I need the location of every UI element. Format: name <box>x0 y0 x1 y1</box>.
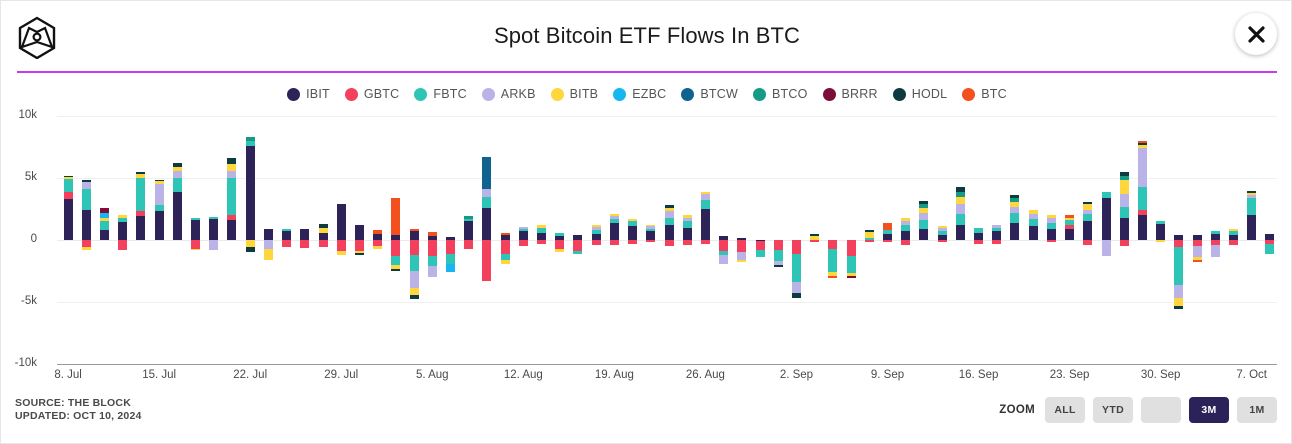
bar-segment-fbtc <box>1083 214 1092 221</box>
bar-column[interactable] <box>1065 116 1074 364</box>
bar-segment-gbtc <box>901 240 910 245</box>
bar-segment-hodl <box>64 176 73 177</box>
bar-segment-arkb <box>1010 207 1019 213</box>
bar-segment-fbtc <box>774 250 783 261</box>
bar-segment-ibit <box>191 220 200 240</box>
bar-segment-gbtc <box>774 240 783 250</box>
bar-segment-btc <box>1193 260 1202 262</box>
bar-segment-arkb <box>1047 218 1056 222</box>
chart-widget: Spot Bitcoin ETF Flows In BTC IBITGBTCFB… <box>0 0 1292 444</box>
y-axis-tick-label: -5k <box>0 295 37 307</box>
bar-column[interactable] <box>282 116 291 364</box>
bar-column[interactable] <box>246 116 255 364</box>
legend-swatch-icon <box>962 88 975 101</box>
bar-column[interactable] <box>428 116 437 364</box>
bar-column[interactable] <box>719 116 728 364</box>
bar-column[interactable] <box>482 116 491 364</box>
bar-segment-btco <box>246 137 255 140</box>
bar-column[interactable] <box>1029 116 1038 364</box>
bar-column[interactable] <box>264 116 273 364</box>
bar-segment-btc <box>883 223 892 230</box>
y-axis-tick-label: 0 <box>0 233 37 245</box>
updated-line: UPDATED: OCT 10, 2024 <box>15 410 142 423</box>
bar-segment-arkb <box>992 225 1001 227</box>
bar-segment-btc <box>828 276 837 278</box>
bar-segment-gbtc <box>646 240 655 242</box>
bar-segment-bitb <box>64 177 73 179</box>
bar-column[interactable] <box>155 116 164 364</box>
bar-segment-fbtc <box>956 214 965 225</box>
bar-column[interactable] <box>573 116 582 364</box>
bar-segment-arkb <box>938 228 947 231</box>
x-axis-tick-label: 22. Jul <box>233 369 267 381</box>
bar-column[interactable] <box>865 116 874 364</box>
bar-column[interactable] <box>756 116 765 364</box>
bar-column[interactable] <box>319 116 328 364</box>
bar-segment-btco <box>464 216 473 219</box>
bar-segment-btco <box>919 204 928 208</box>
bar-segment-bitb <box>501 260 510 264</box>
bar-column[interactable] <box>555 116 564 364</box>
bar-segment-gbtc <box>355 240 364 251</box>
bar-column[interactable] <box>883 116 892 364</box>
bar-column[interactable] <box>956 116 965 364</box>
bar-segment-gbtc <box>410 240 419 255</box>
legend-item-hodl[interactable]: HODL <box>893 87 948 101</box>
bar-column[interactable] <box>1010 116 1019 364</box>
bar-segment-ezbc <box>446 264 455 273</box>
bar-segment-fbtc <box>919 220 928 229</box>
bar-segment-arkb <box>610 216 619 219</box>
bar-segment-bitb <box>173 167 182 171</box>
bar-segment-ibit <box>683 228 692 240</box>
bar-column[interactable] <box>774 116 783 364</box>
bar-segment-arkb <box>683 218 692 222</box>
legend-swatch-icon <box>551 88 564 101</box>
bar-segment-fbtc <box>209 217 218 218</box>
bar-column[interactable] <box>373 116 382 364</box>
accent-divider <box>17 71 1277 73</box>
bar-segment-ibit <box>519 231 528 240</box>
bar-segment-ibit <box>919 229 928 240</box>
bar-segment-bitb <box>264 249 273 260</box>
bar-column[interactable] <box>938 116 947 364</box>
legend-item-btco[interactable]: BTCO <box>753 87 808 101</box>
bar-column[interactable] <box>136 116 145 364</box>
bar-segment-gbtc <box>719 240 728 251</box>
bar-segment-hodl <box>355 253 364 255</box>
bar-column[interactable] <box>828 116 837 364</box>
legend-item-gbtc[interactable]: GBTC <box>345 87 400 101</box>
bar-segment-gbtc <box>501 240 510 254</box>
bar-segment-ibit <box>1156 224 1165 240</box>
chart-legend: IBITGBTCFBTCARKBBITBEZBCBTCWBTCOBRRRHODL… <box>1 87 1292 101</box>
bar-segment-bitb <box>683 215 692 218</box>
bar-segment-bitb <box>373 246 382 250</box>
bar-segment-ibit <box>355 225 364 240</box>
bar-segment-arkb <box>719 255 728 264</box>
bar-segment-fbtc <box>974 228 983 233</box>
legend-item-arkb[interactable]: ARKB <box>482 87 536 101</box>
bar-segment-fbtc <box>1010 213 1019 223</box>
bar-segment-gbtc <box>282 240 291 247</box>
bar-segment-gbtc <box>701 240 710 244</box>
page-title: Spot Bitcoin ETF Flows In BTC <box>1 23 1292 49</box>
bar-column[interactable] <box>1211 116 1220 364</box>
x-axis-tick-label: 7. Oct <box>1236 369 1267 381</box>
bar-column[interactable] <box>810 116 819 364</box>
bar-segment-bitb <box>191 249 200 250</box>
bar-column[interactable] <box>519 116 528 364</box>
legend-item-bitb[interactable]: BITB <box>551 87 599 101</box>
legend-item-btcw[interactable]: BTCW <box>681 87 738 101</box>
legend-label: EZBC <box>632 87 666 101</box>
legend-item-brrr[interactable]: BRRR <box>823 87 878 101</box>
zoom-button-1m[interactable]: 1M <box>1237 397 1277 423</box>
bar-column[interactable] <box>337 116 346 364</box>
bar-segment-gbtc <box>136 211 145 216</box>
bar-segment-arkb <box>1193 246 1202 257</box>
bar-segment-gbtc <box>847 240 856 256</box>
bar-segment-bitb <box>956 197 965 204</box>
bar-segment-fbtc <box>519 229 528 231</box>
bar-segment-ibit <box>282 231 291 240</box>
zoom-button-blank[interactable] <box>1141 397 1181 423</box>
bar-segment-fbtc <box>865 238 874 240</box>
bar-segment-ibit <box>646 231 655 240</box>
bar-column[interactable] <box>209 116 218 364</box>
bar-segment-ibit <box>227 220 236 240</box>
bar-segment-bitb <box>665 208 674 212</box>
legend-item-btc[interactable]: BTC <box>962 87 1007 101</box>
bar-segment-arkb <box>1174 285 1183 299</box>
bar-segment-ibit <box>1065 229 1074 240</box>
legend-swatch-icon <box>613 88 626 101</box>
legend-label: GBTC <box>364 87 400 101</box>
close-button[interactable] <box>1235 13 1277 55</box>
bar-segment-fbtc <box>464 219 473 221</box>
bar-segment-arkb <box>482 189 491 196</box>
legend-label: IBIT <box>306 87 330 101</box>
bar-column[interactable] <box>355 116 364 364</box>
bar-segment-ibit <box>464 221 473 240</box>
bar-segment-gbtc <box>1047 240 1056 242</box>
bar-segment-fbtc <box>282 229 291 231</box>
bar-segment-gbtc <box>683 240 692 245</box>
legend-swatch-icon <box>823 88 836 101</box>
bar-segment-hodl <box>919 201 928 204</box>
bar-segment-arkb <box>1247 195 1256 197</box>
bar-column[interactable] <box>1229 116 1238 364</box>
bar-segment-fbtc <box>828 249 837 273</box>
bar-column[interactable] <box>100 116 109 364</box>
bar-column[interactable] <box>300 116 309 364</box>
bar-column[interactable] <box>1120 116 1129 364</box>
x-axis-tick-label: 9. Sep <box>871 369 904 381</box>
gridline <box>57 364 1277 365</box>
bar-segment-btc <box>1065 215 1074 217</box>
bar-segment-fbtc <box>82 189 91 210</box>
bar-segment-arkb <box>901 221 910 225</box>
bar-segment-arkb <box>1029 214 1038 219</box>
bar-segment-gbtc <box>992 240 1001 244</box>
bar-segment-fbtc <box>628 221 637 226</box>
bar-column[interactable] <box>82 116 91 364</box>
bar-segment-hodl <box>319 224 328 227</box>
bar-segment-ibit <box>209 219 218 240</box>
bar-segment-ibit <box>901 231 910 240</box>
bar-column[interactable] <box>1247 116 1256 364</box>
bar-segment-btcw <box>482 157 491 189</box>
bar-segment-ibit <box>1029 226 1038 240</box>
bar-segment-hodl <box>1010 195 1019 198</box>
bar-column[interactable] <box>1193 116 1202 364</box>
bar-segment-bitb <box>1029 210 1038 214</box>
bar-segment-fbtc <box>847 256 856 273</box>
bar-segment-gbtc <box>737 240 746 252</box>
bar-column[interactable] <box>919 116 928 364</box>
x-axis-tick-label: 29. Jul <box>324 369 358 381</box>
bar-column[interactable] <box>1102 116 1111 364</box>
bar-segment-hodl <box>155 180 164 181</box>
legend-item-ibit[interactable]: IBIT <box>287 87 330 101</box>
bar-column[interactable] <box>1047 116 1056 364</box>
bar-segment-btc <box>428 232 437 236</box>
bar-segment-arkb <box>209 240 218 250</box>
bar-column[interactable] <box>227 116 236 364</box>
bar-segment-bitb <box>701 192 710 194</box>
bar-column[interactable] <box>1138 116 1147 364</box>
bar-segment-hodl <box>391 269 400 271</box>
bar-segment-gbtc <box>428 240 437 256</box>
bar-segment-arkb <box>1102 240 1111 256</box>
zoom-button-3m[interactable]: 3M <box>1189 397 1229 423</box>
bar-segment-arkb <box>646 226 655 228</box>
x-axis-tick-label: 15. Jul <box>142 369 176 381</box>
bar-segment-ibit <box>628 226 637 240</box>
bar-segment-bitb <box>610 214 619 216</box>
bar-segment-ibit <box>337 204 346 240</box>
bar-segment-arkb <box>428 266 437 277</box>
bar-column[interactable] <box>64 116 73 364</box>
bar-column[interactable] <box>847 116 856 364</box>
bar-column[interactable] <box>665 116 674 364</box>
bar-column[interactable] <box>501 116 510 364</box>
bar-segment-bitb <box>865 232 874 238</box>
bar-segment-fbtc <box>646 229 655 231</box>
bar-segment-ibit <box>537 233 546 240</box>
bar-column[interactable] <box>464 116 473 364</box>
bar-segment-arkb <box>665 211 674 217</box>
bar-segment-bitb <box>227 164 236 171</box>
bar-segment-hodl <box>1247 191 1256 193</box>
bar-segment-fbtc <box>191 218 200 220</box>
bar-segment-ibit <box>300 229 309 240</box>
legend-label: BRRR <box>842 87 878 101</box>
bar-segment-gbtc <box>1065 225 1074 229</box>
bar-segment-fbtc <box>1120 207 1129 218</box>
bar-segment-fbtc <box>938 231 947 235</box>
bar-segment-fbtc <box>1047 223 1056 229</box>
bar-segment-ibit <box>319 233 328 240</box>
bar-segment-gbtc <box>300 240 309 248</box>
bar-segment-bitb <box>319 228 328 233</box>
bar-segment-hodl <box>1138 143 1147 145</box>
bar-column[interactable] <box>628 116 637 364</box>
bar-segment-fbtc <box>1247 198 1256 215</box>
legend-item-ezbc[interactable]: EZBC <box>613 87 666 101</box>
bar-segment-arkb <box>919 213 928 220</box>
bar-column[interactable] <box>1174 116 1183 364</box>
bar-column[interactable] <box>683 116 692 364</box>
bar-segment-gbtc <box>519 240 528 246</box>
bar-segment-hodl <box>956 187 965 192</box>
bar-column[interactable] <box>1156 116 1165 364</box>
bar-segment-ibit <box>1102 198 1111 240</box>
y-axis-tick-label: 10k <box>0 109 37 121</box>
x-axis-tick-label: 5. Aug <box>416 369 449 381</box>
legend-swatch-icon <box>287 88 300 101</box>
bar-segment-bitb <box>136 174 145 178</box>
bar-segment-gbtc <box>319 240 328 247</box>
y-axis-tick-label: 5k <box>0 171 37 183</box>
bar-segment-gbtc <box>883 240 892 242</box>
bar-segment-fbtc <box>136 178 145 211</box>
bar-segment-fbtc <box>701 200 710 209</box>
bar-segment-arkb <box>155 184 164 205</box>
bar-segment-fbtc <box>1102 192 1111 198</box>
bar-segment-gbtc <box>482 240 491 281</box>
bar-segment-gbtc <box>227 215 236 220</box>
legend-label: BTCO <box>772 87 808 101</box>
bar-segment-btc <box>501 233 510 235</box>
x-axis-tick-label: 8. Jul <box>54 369 82 381</box>
bar-column[interactable] <box>646 116 655 364</box>
bar-column[interactable] <box>974 116 983 364</box>
legend-label: FBTC <box>433 87 466 101</box>
bar-segment-fbtc <box>756 250 765 257</box>
bar-segment-gbtc <box>391 240 400 256</box>
bar-segment-ibit <box>1138 215 1147 240</box>
bar-segment-brrr <box>100 208 109 213</box>
bar-segment-ezbc <box>100 213 109 218</box>
bar-column[interactable] <box>592 116 601 364</box>
legend-label: HODL <box>912 87 948 101</box>
bar-segment-bitb <box>100 218 109 221</box>
bar-segment-fbtc <box>683 221 692 227</box>
bar-segment-hodl <box>246 247 255 251</box>
legend-label: BITB <box>570 87 599 101</box>
bar-segment-bitb <box>1083 204 1092 210</box>
legend-swatch-icon <box>681 88 694 101</box>
bar-segment-ibit <box>1247 215 1256 240</box>
bar-segment-btc <box>410 229 419 231</box>
bar-column[interactable] <box>737 116 746 364</box>
bar-segment-gbtc <box>1229 240 1238 245</box>
zoom-button-all[interactable]: ALL <box>1045 397 1085 423</box>
bar-segment-hodl <box>82 180 91 181</box>
bar-segment-gbtc <box>974 240 983 244</box>
bar-segment-gbtc <box>828 240 837 249</box>
bar-segment-fbtc <box>173 178 182 192</box>
bar-segment-fbtc <box>410 255 419 271</box>
bar-segment-bitb <box>592 225 601 227</box>
bar-segment-ibit <box>992 231 1001 240</box>
x-axis-tick-label: 26. Aug <box>686 369 725 381</box>
bar-segment-ibit <box>82 210 91 240</box>
bar-segment-hodl <box>810 234 819 236</box>
legend-label: BTCW <box>700 87 738 101</box>
bar-segment-ibit <box>1083 221 1092 240</box>
legend-swatch-icon <box>753 88 766 101</box>
bar-segment-arkb <box>519 227 528 229</box>
bar-segment-btc <box>1138 141 1147 143</box>
bar-segment-fbtc <box>155 205 164 211</box>
zoom-button-ytd[interactable]: YTD <box>1093 397 1133 423</box>
bar-column[interactable] <box>410 116 419 364</box>
bar-column[interactable] <box>701 116 710 364</box>
bar-segment-bitb <box>1156 240 1165 242</box>
bar-segment-ibit <box>974 233 983 240</box>
bar-segment-fbtc <box>446 254 455 264</box>
bar-segment-gbtc <box>446 240 455 254</box>
bar-column[interactable] <box>446 116 455 364</box>
x-axis-tick-label: 2. Sep <box>780 369 813 381</box>
close-x-icon <box>1248 26 1265 43</box>
bar-segment-hodl <box>1120 172 1129 176</box>
bar-segment-fbtc <box>992 228 1001 232</box>
bar-column[interactable] <box>992 116 1001 364</box>
bar-segment-arkb <box>82 182 91 189</box>
bar-column[interactable] <box>173 116 182 364</box>
bar-segment-ibit <box>136 216 145 240</box>
bar-column[interactable] <box>1265 116 1274 364</box>
plot-area: 10k5k0-5k-10k <box>57 116 1277 364</box>
bar-segment-ibit <box>246 146 255 240</box>
bar-segment-fbtc <box>1174 247 1183 284</box>
bar-segment-ibit <box>1120 218 1129 240</box>
legend-item-fbtc[interactable]: FBTC <box>414 87 466 101</box>
zoom-controls: ZOOM ALLYTD3M1M <box>999 397 1277 423</box>
source-line: SOURCE: THE BLOCK <box>15 397 142 410</box>
bar-segment-gbtc <box>464 240 473 249</box>
bar-segment-fbtc <box>1029 219 1038 226</box>
bar-segment-bitb <box>901 218 910 221</box>
bar-column[interactable] <box>1083 116 1092 364</box>
bar-segment-arkb <box>792 282 801 293</box>
bar-segment-hodl <box>665 205 674 208</box>
bar-segment-fbtc <box>883 230 892 234</box>
bar-segment-btc <box>391 198 400 235</box>
bar-segment-bitb <box>246 240 255 247</box>
bar-column[interactable] <box>191 116 200 364</box>
x-axis-tick-label: 30. Sep <box>1141 369 1181 381</box>
bar-column[interactable] <box>118 116 127 364</box>
bar-segment-gbtc <box>1083 240 1092 245</box>
bar-segment-fbtc <box>573 251 582 253</box>
bar-segment-ibit <box>410 231 419 240</box>
bar-column[interactable] <box>792 116 801 364</box>
bar-segment-gbtc <box>118 240 127 250</box>
bar-segment-arkb <box>1120 194 1129 206</box>
bar-segment-brrr <box>847 276 856 278</box>
bar-segment-arkb <box>173 171 182 178</box>
bar-column[interactable] <box>537 116 546 364</box>
bar-segment-gbtc <box>1138 210 1147 215</box>
bar-column[interactable] <box>610 116 619 364</box>
bar-column[interactable] <box>391 116 400 364</box>
bar-column[interactable] <box>901 116 910 364</box>
